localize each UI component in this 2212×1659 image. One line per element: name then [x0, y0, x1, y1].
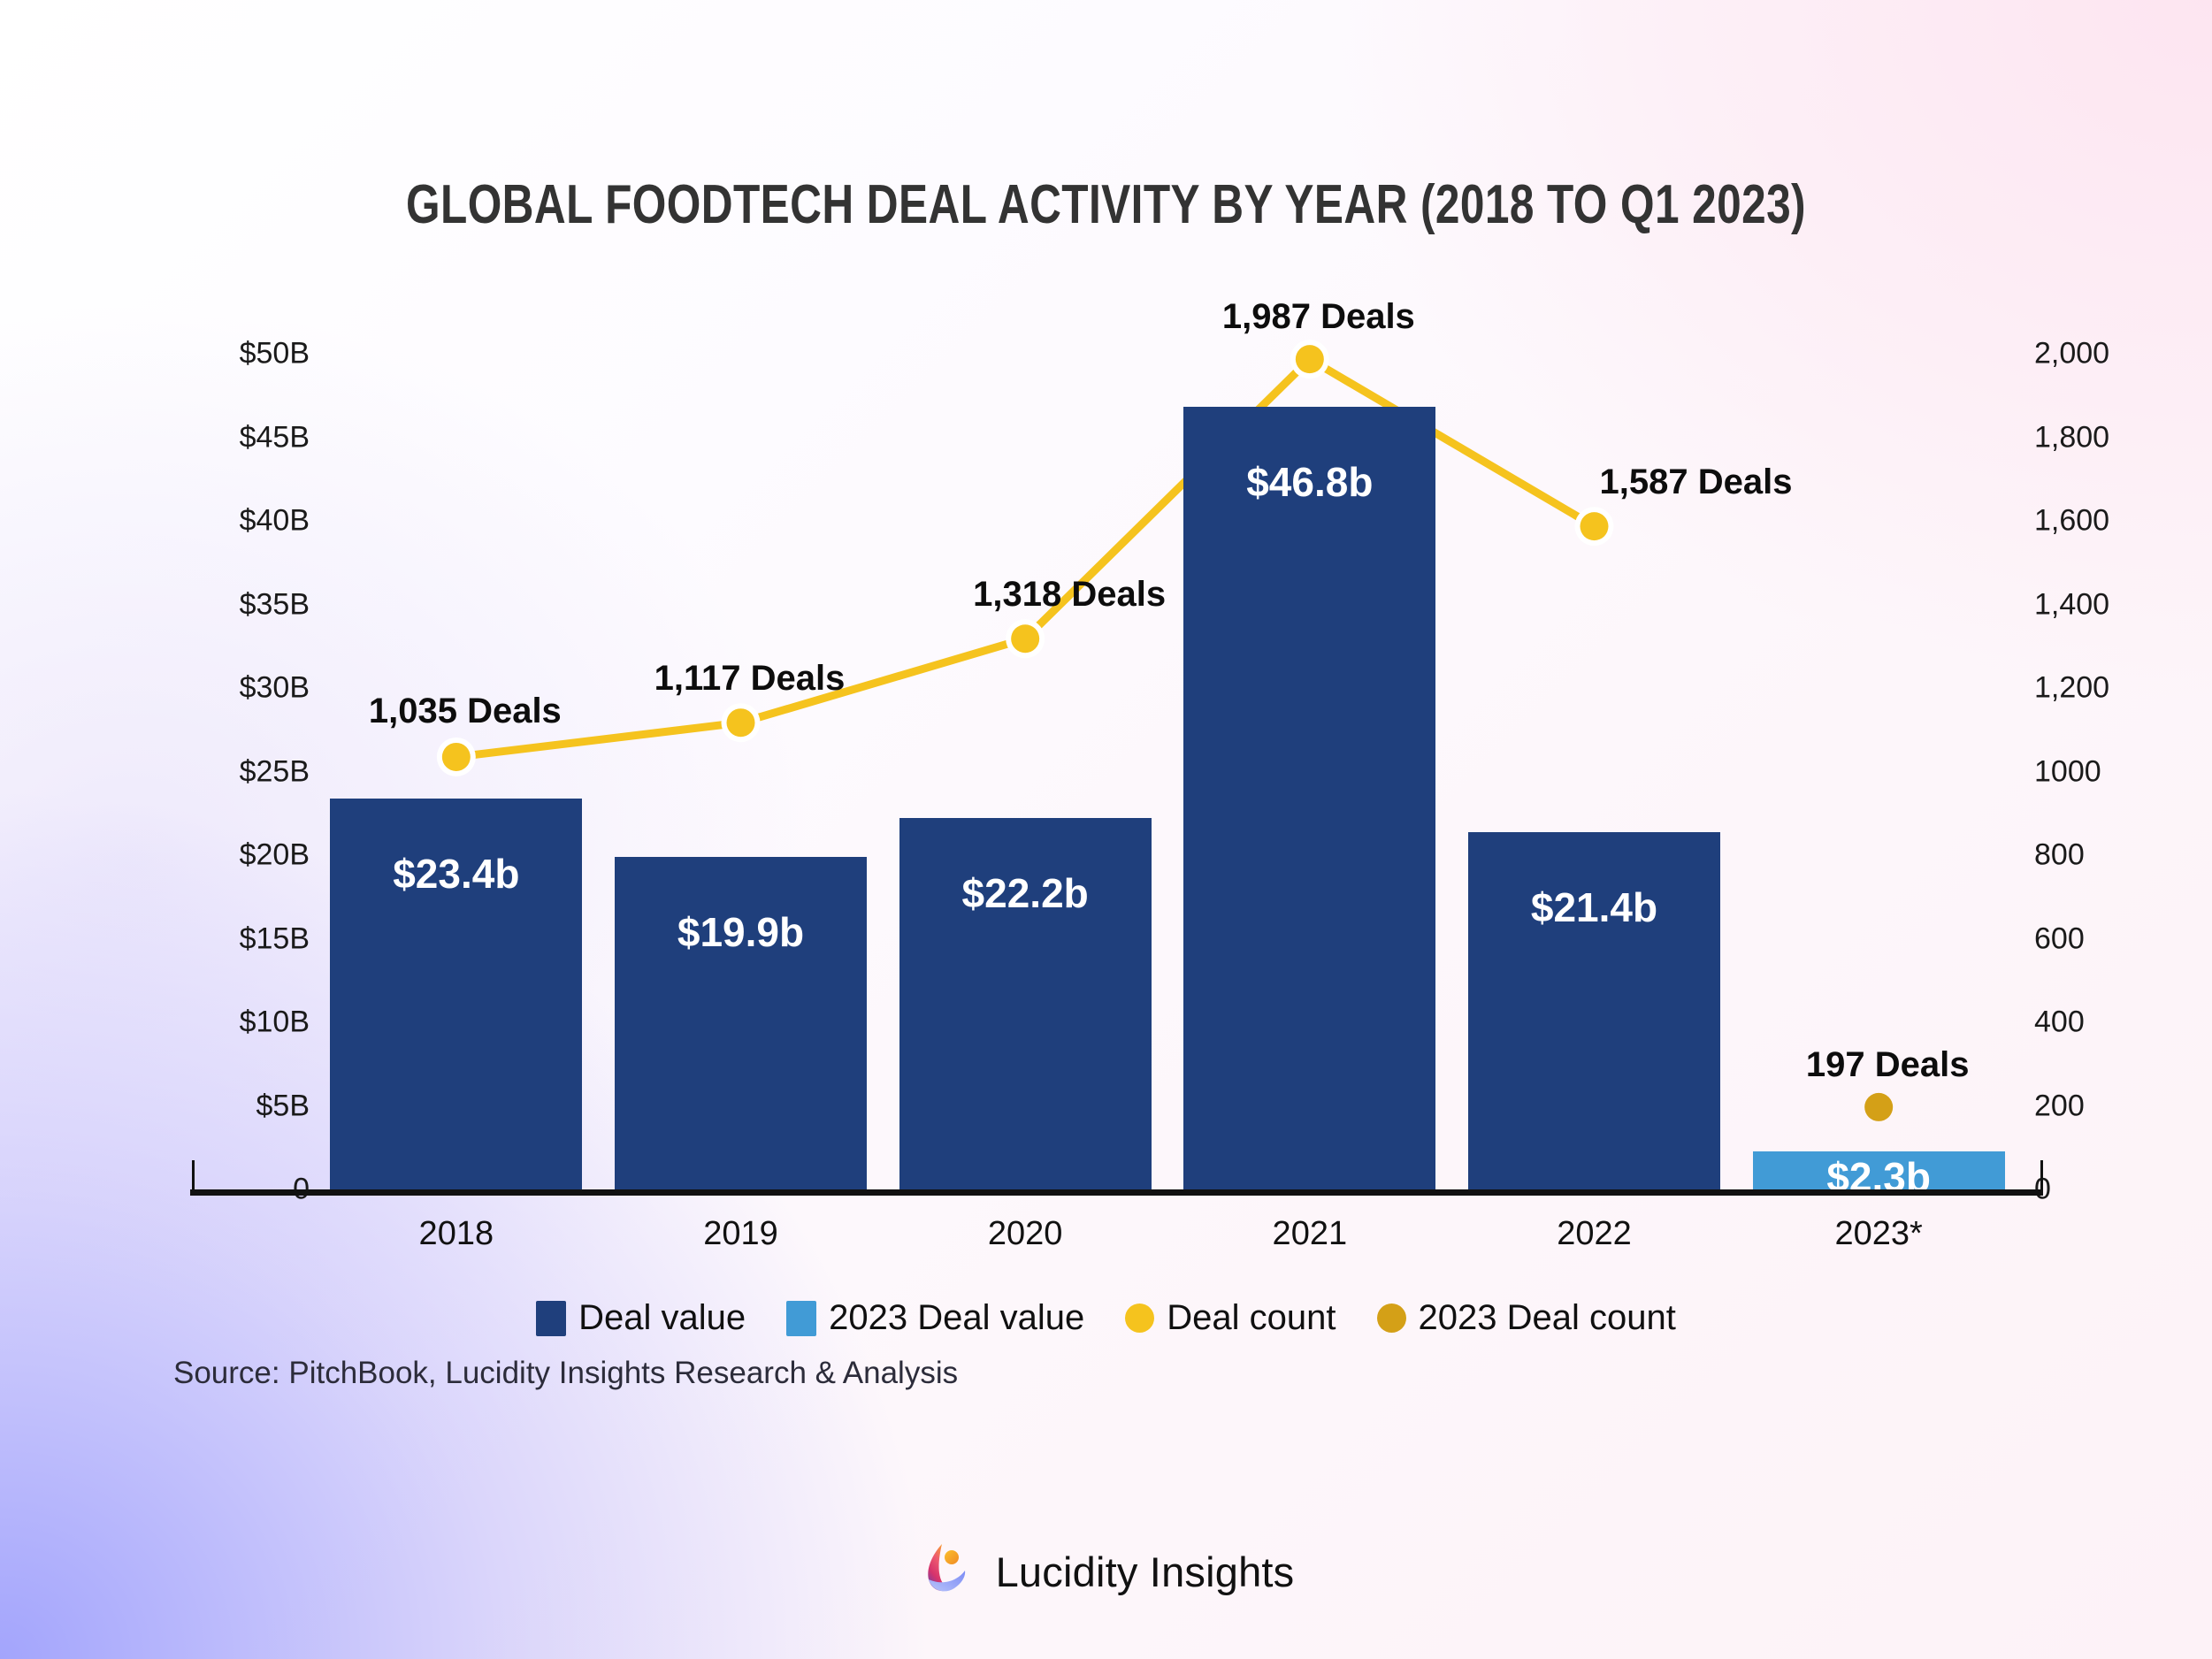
x-axis-label-2020: 2020 [988, 1215, 1063, 1253]
bar-value-label: $23.4b [330, 850, 582, 898]
legend-label: Deal count [1167, 1298, 1336, 1338]
x-axis-label-2023: 2023* [1834, 1215, 1922, 1253]
legend-swatch-circle-icon [1377, 1303, 1406, 1333]
axis-left-tick: $30B [240, 671, 310, 706]
data-point-2021[interactable] [1296, 345, 1324, 373]
axis-left-tick: $20B [240, 838, 310, 873]
axis-right-tick: 1,600 [2034, 504, 2109, 539]
source-note: Source: PitchBook, Lucidity Insights Res… [173, 1356, 958, 1391]
x-axis-labels: 201820192020202120222023* [314, 1215, 2021, 1268]
data-point-halo [1575, 507, 1614, 546]
deal-count-label-2021: 1,987 Deals [1222, 297, 1415, 337]
legend-swatch-square-icon [786, 1301, 816, 1336]
legend-swatch-circle-icon [1125, 1303, 1154, 1333]
x-axis-baseline [190, 1189, 2043, 1196]
x-axis-label-2019: 2019 [703, 1215, 778, 1253]
legend-swatch-square-icon [536, 1301, 566, 1336]
deal-count-label-2020: 1,318 Deals [973, 575, 1166, 615]
brand-name: Lucidity Insights [996, 1548, 1295, 1596]
data-point-halo [722, 703, 761, 742]
axis-left-tick: $5B [256, 1089, 310, 1123]
axis-right-tick: 2,000 [2034, 337, 2109, 371]
axis-left-tick: $45B [240, 420, 310, 455]
deal-count-label-2018: 1,035 Deals [369, 692, 562, 731]
bar-2021[interactable]: $46.8b [1183, 407, 1435, 1189]
axis-right-tick: 1,200 [2034, 671, 2109, 706]
data-point-2018[interactable] [442, 743, 471, 771]
legend-item-3[interactable]: 2023 Deal count [1377, 1298, 1676, 1338]
axis-left-tick: $35B [240, 587, 310, 622]
bar-value-label: $19.9b [615, 908, 867, 956]
x-axis-label-2021: 2021 [1273, 1215, 1348, 1253]
axis-left-tick: $25B [240, 754, 310, 789]
infographic-canvas: GLOBAL FOODTECH DEAL ACTIVITY BY YEAR (2… [0, 0, 2212, 1659]
bar-value-label: $46.8b [1183, 458, 1435, 506]
legend-item-1[interactable]: 2023 Deal value [786, 1298, 1084, 1338]
bar-2023[interactable]: $2.3b [1753, 1151, 2005, 1189]
bar-2019[interactable]: $19.9b [615, 857, 867, 1189]
data-point-2022[interactable] [1581, 512, 1609, 540]
axis-left-tick: $50B [240, 337, 310, 371]
bar-value-label: $21.4b [1468, 883, 1720, 931]
axis-right-tick: 1,400 [2034, 587, 2109, 622]
y-axis-left: $50B$45B$40B$35B$30B$25B$20B$15B$10B$5B0 [159, 354, 310, 1189]
bar-2022[interactable]: $21.4b [1468, 832, 1720, 1189]
deal-count-label-2022: 1,587 Deals [1600, 463, 1793, 502]
data-point-2019[interactable] [727, 708, 755, 737]
axis-right-tick: 600 [2034, 921, 2085, 956]
page-title: GLOBAL FOODTECH DEAL ACTIVITY BY YEAR (2… [221, 173, 1991, 236]
axis-cap-left [192, 1160, 195, 1190]
legend-item-0[interactable]: Deal value [536, 1298, 746, 1338]
data-point-halo [1290, 340, 1329, 378]
x-axis-label-2022: 2022 [1557, 1215, 1632, 1253]
legend-item-2[interactable]: Deal count [1125, 1298, 1336, 1338]
bar-2020[interactable]: $22.2b [899, 818, 1152, 1189]
axis-left-tick: $40B [240, 504, 310, 539]
data-point-2020[interactable] [1011, 624, 1039, 653]
axis-left-tick: $15B [240, 921, 310, 956]
data-point-halo [437, 738, 476, 776]
legend-label: Deal value [578, 1298, 746, 1338]
x-axis-label-2018: 2018 [419, 1215, 494, 1253]
brand-footer: Lucidity Insights [0, 1540, 2212, 1603]
axis-right-tick: 1000 [2034, 754, 2101, 789]
legend-label: 2023 Deal count [1419, 1298, 1676, 1338]
bar-2018[interactable]: $23.4b [330, 799, 582, 1189]
y-axis-right: 2,0001,8001,6001,4001,200100080060040020… [2034, 354, 2185, 1189]
data-point-2023[interactable] [1864, 1093, 1893, 1121]
axis-right-tick: 1,800 [2034, 420, 2109, 455]
axis-right-tick: 400 [2034, 1005, 2085, 1040]
chart-legend: Deal value2023 Deal valueDeal count2023 … [0, 1298, 2212, 1338]
deal-count-label-2023: 197 Deals [1806, 1045, 1970, 1085]
axis-right-tick: 800 [2034, 838, 2085, 873]
plot-area: $23.4b$19.9b$22.2b$46.8b$21.4b$2.3b1,035… [314, 354, 2021, 1189]
axis-left-tick: $10B [240, 1005, 310, 1040]
axis-cap-right [2040, 1160, 2043, 1190]
legend-label: 2023 Deal value [829, 1298, 1084, 1338]
lucidity-logo-icon [918, 1540, 976, 1603]
data-point-halo [1006, 619, 1045, 658]
bar-value-label: $22.2b [899, 869, 1152, 917]
axis-right-tick: 200 [2034, 1089, 2085, 1123]
deal-count-label-2019: 1,117 Deals [654, 659, 846, 699]
